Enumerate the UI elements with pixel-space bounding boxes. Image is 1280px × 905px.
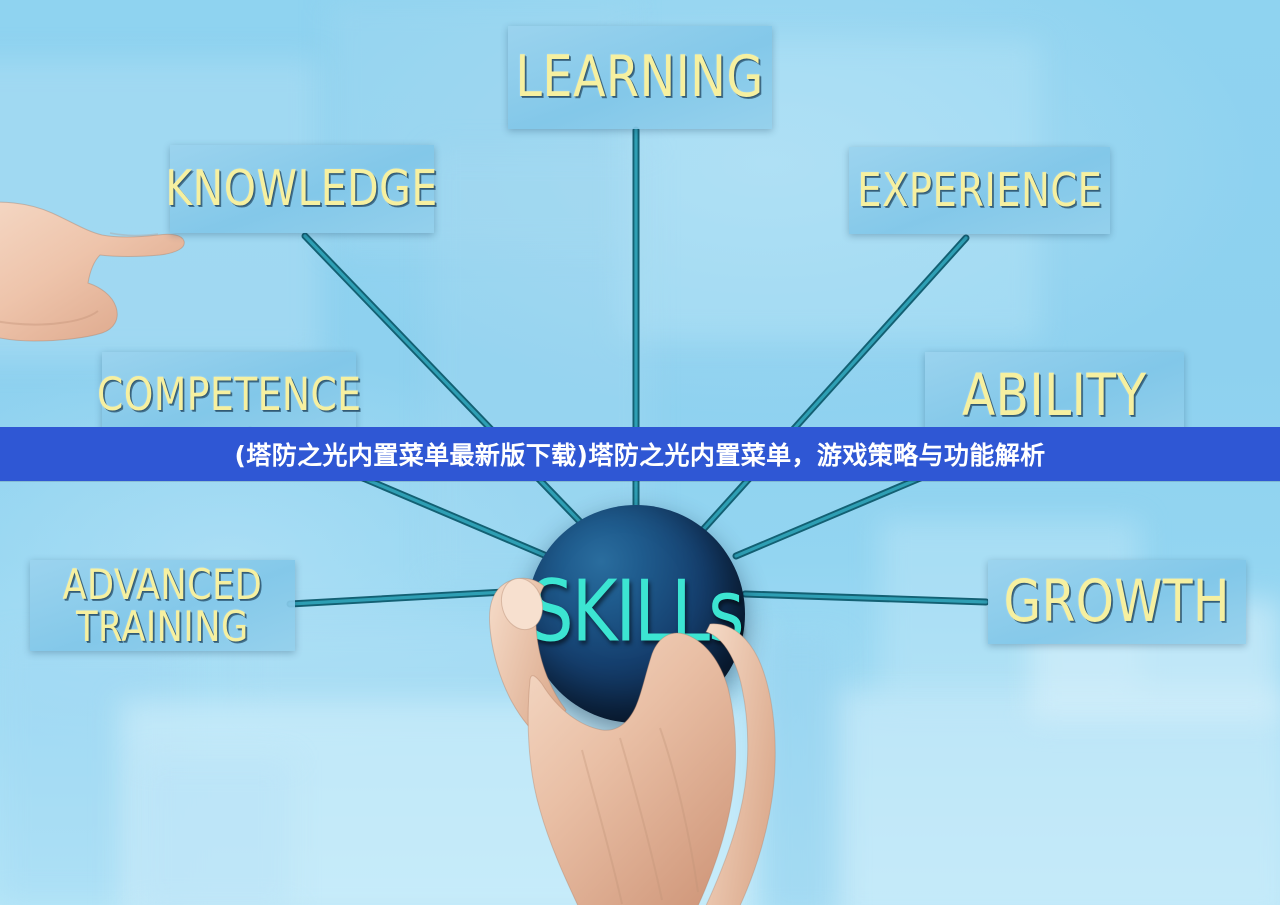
node-label-advanced-training[interactable]: ADVANCED TRAINING (30, 560, 295, 651)
node-label-knowledge[interactable]: KNOWLEDGE (170, 145, 434, 233)
node-label-experience-text: EXPERIENCE (857, 167, 1102, 214)
node-label-competence-text: COMPETENCE (97, 372, 362, 418)
poster-canvas: SKILLs LEARNING (0, 0, 1280, 905)
banner-title-text: (塔防之光内置菜单最新版下载)塔防之光内置菜单，游戏策略与功能解析 (234, 436, 1045, 472)
node-label-experience[interactable]: EXPERIENCE (849, 147, 1110, 234)
node-label-growth[interactable]: GROWTH (988, 560, 1246, 644)
node-label-learning-text: LEARNING (516, 48, 765, 106)
title-banner: (塔防之光内置菜单最新版下载)塔防之光内置菜单，游戏策略与功能解析 (0, 427, 1280, 481)
hand-holding-sphere-icon (470, 560, 810, 905)
node-label-advanced-training-text: ADVANCED TRAINING (63, 564, 263, 648)
node-label-competence[interactable]: COMPETENCE (102, 352, 356, 438)
node-label-ability-text: ABILITY (962, 366, 1147, 425)
node-label-learning[interactable]: LEARNING (508, 26, 772, 129)
node-label-growth-text: GROWTH (1004, 572, 1230, 631)
node-label-knowledge-text: KNOWLEDGE (166, 164, 439, 214)
